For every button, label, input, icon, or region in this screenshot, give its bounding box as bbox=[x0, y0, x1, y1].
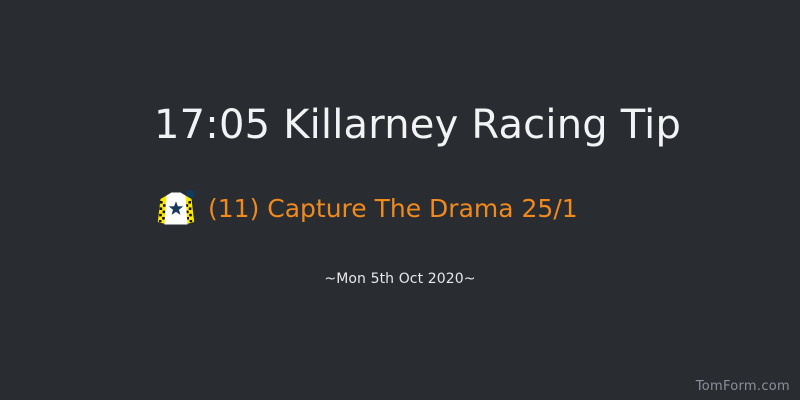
racing-silk-icon bbox=[155, 186, 199, 230]
tip-selection-label: (11) Capture The Drama 25/1 bbox=[208, 195, 578, 223]
site-watermark: TomForm.com bbox=[696, 379, 790, 394]
page-title: 17:05 Killarney Racing Tip bbox=[154, 102, 681, 148]
racing-tip-card: 17:05 Killarney Racing Tip bbox=[0, 0, 800, 400]
race-date: ~Mon 5th Oct 2020~ bbox=[0, 271, 800, 287]
tip-selection-row[interactable]: (11) Capture The Drama 25/1 bbox=[155, 186, 578, 230]
